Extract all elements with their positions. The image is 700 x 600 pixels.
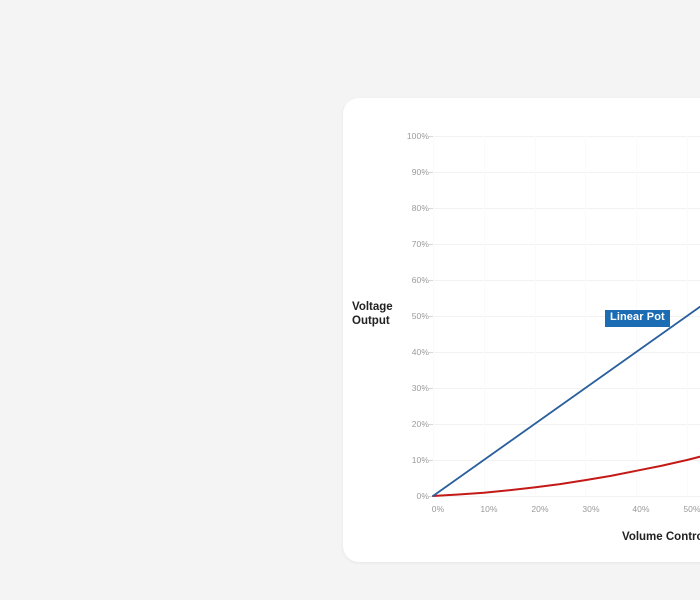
gridline-vertical bbox=[484, 136, 485, 496]
gridline-vertical bbox=[535, 136, 536, 496]
y-axis-tick-label: 10% bbox=[404, 455, 429, 465]
y-axis-tick-label: 40% bbox=[404, 347, 429, 357]
y-axis-tick-label: 70% bbox=[404, 239, 429, 249]
x-axis-tick-label: 0% bbox=[432, 504, 445, 514]
x-axis-tick-label: 20% bbox=[531, 504, 548, 514]
gridline-vertical bbox=[433, 136, 434, 496]
y-axis-tick-label: 100% bbox=[404, 131, 429, 141]
y-axis-tick-label: 60% bbox=[404, 275, 429, 285]
y-axis-tick-mark bbox=[429, 496, 433, 497]
y-axis-tick-mark bbox=[429, 352, 433, 353]
gridline-horizontal bbox=[433, 388, 700, 389]
x-axis-title: Volume Contro bbox=[622, 531, 700, 543]
x-axis-tick-label: 50% bbox=[683, 504, 700, 514]
y-axis-tick-mark bbox=[429, 208, 433, 209]
gridline-horizontal bbox=[433, 208, 700, 209]
x-axis-tick-label: 10% bbox=[480, 504, 497, 514]
series-label-linear-pot[interactable]: Linear Pot bbox=[605, 310, 670, 327]
y-axis-tick-mark bbox=[429, 316, 433, 317]
gridline-horizontal bbox=[433, 244, 700, 245]
y-axis-tick-mark bbox=[429, 280, 433, 281]
y-axis-title-line2: Output bbox=[352, 314, 408, 328]
y-axis-tick-mark bbox=[429, 172, 433, 173]
gridline-vertical bbox=[585, 136, 586, 496]
gridline-horizontal bbox=[433, 136, 700, 137]
gridline-horizontal bbox=[433, 280, 700, 281]
gridline-horizontal bbox=[433, 496, 700, 497]
x-axis-tick-label: 40% bbox=[632, 504, 649, 514]
x-axis-tick-label: 30% bbox=[582, 504, 599, 514]
y-axis-tick-label: 90% bbox=[404, 167, 429, 177]
y-axis-tick-label: 30% bbox=[404, 383, 429, 393]
gridline-horizontal bbox=[433, 460, 700, 461]
y-axis-tick-label: 0% bbox=[404, 491, 429, 501]
y-axis-title-line1: Voltage bbox=[352, 300, 408, 314]
y-axis-tick-mark bbox=[429, 136, 433, 137]
y-axis-tick-label: 80% bbox=[404, 203, 429, 213]
y-axis-tick-mark bbox=[429, 244, 433, 245]
gridline-vertical bbox=[687, 136, 688, 496]
gridline-horizontal bbox=[433, 352, 700, 353]
y-axis-tick-mark bbox=[429, 460, 433, 461]
gridline-horizontal bbox=[433, 172, 700, 173]
y-axis-tick-mark bbox=[429, 388, 433, 389]
y-axis-title: Voltage Output bbox=[352, 300, 408, 329]
y-axis-tick-mark bbox=[429, 424, 433, 425]
gridline-horizontal bbox=[433, 424, 700, 425]
y-axis-tick-label: 20% bbox=[404, 419, 429, 429]
